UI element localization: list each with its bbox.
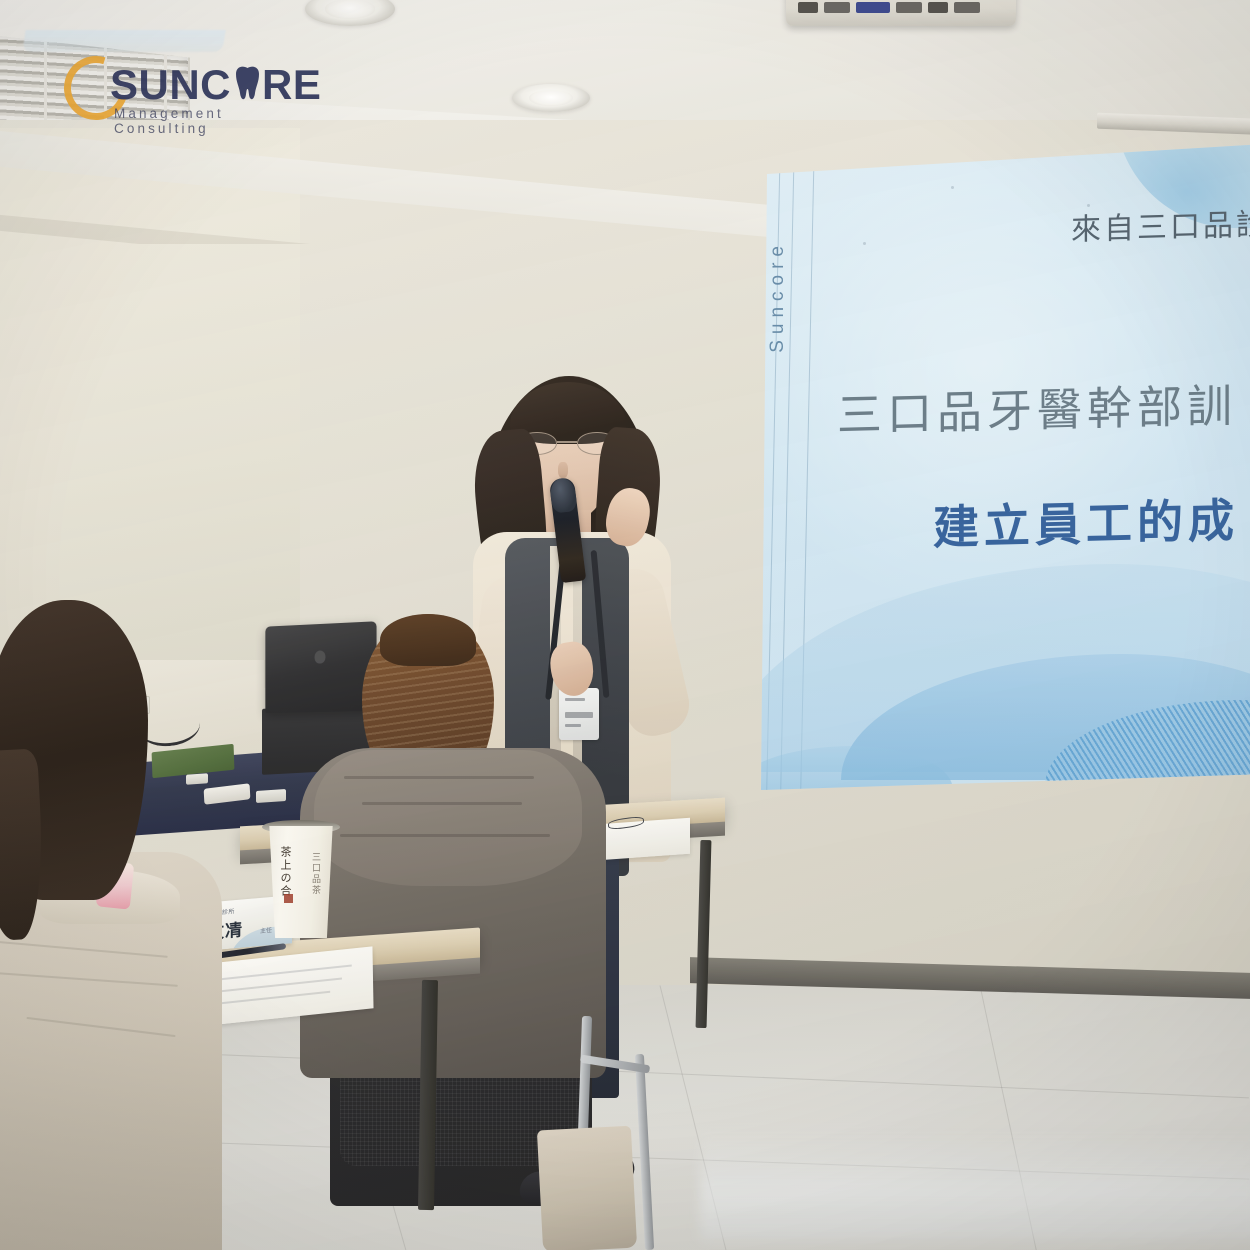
suncore-watermark-logo: SUNC RE Management Consulting	[58, 50, 308, 134]
slide-subtitle: 建立員工的成	[933, 484, 1239, 557]
suncore-wordmark-tail: RE	[262, 64, 321, 106]
attendee-middle-hair-crown	[380, 614, 476, 666]
nameplate-title: 主任	[260, 925, 272, 935]
attendee-left	[0, 600, 220, 1250]
paper-cup[interactable]: 茶上の合 三口品茶	[265, 826, 337, 938]
ceiling-projector	[786, 0, 1016, 26]
cup-text-main: 茶上の合	[277, 846, 293, 898]
presenter-nose	[558, 462, 568, 478]
projector-ports	[798, 0, 1004, 14]
slide-title: 三口品牙醫幹部訓	[837, 369, 1237, 444]
desk-small-item	[256, 789, 286, 803]
tote-bag[interactable]	[537, 1126, 637, 1250]
tooth-icon	[234, 65, 261, 101]
projector-light-glare	[22, 30, 225, 52]
red-seal-icon	[284, 894, 293, 903]
floor-reflection	[700, 1130, 1250, 1240]
slide-vertical-brand: Suncore	[767, 240, 789, 353]
projection-screen: Suncore 來自三口品診 三口品牙醫幹部訓 建立員工的成	[745, 144, 1250, 790]
attendee-middle-hood	[314, 750, 582, 886]
slide-kicker-text: 來自三口品診	[1071, 199, 1250, 249]
downlight-icon	[512, 84, 590, 112]
seminar-room-photo: SUNC RE Management Consulting Suncore 來自…	[0, 0, 1250, 1250]
cup-text-side: 三口品茶	[309, 852, 322, 896]
suncore-tagline: Management Consulting	[114, 106, 308, 136]
suncore-wordmark: SUNC	[110, 64, 231, 106]
presentation-slide: Suncore 來自三口品診 三口品牙醫幹部訓 建立員工的成	[745, 144, 1250, 790]
